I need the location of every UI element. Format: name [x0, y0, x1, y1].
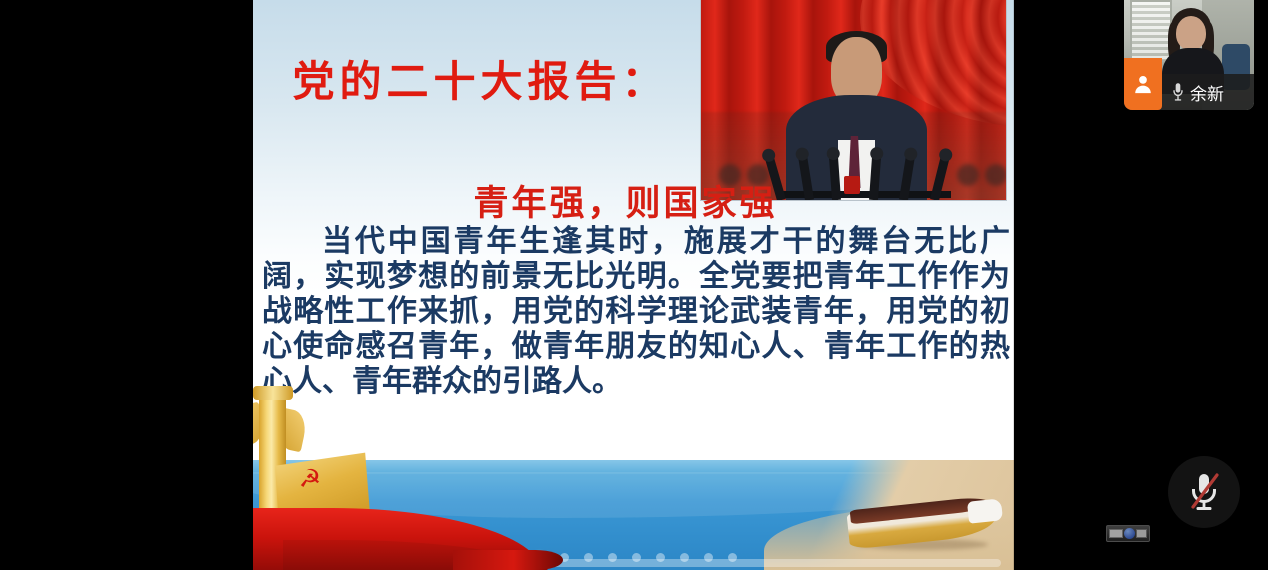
slide-body-text: 当代中国青年生逢其时，施展才干的舞台无比广阔，实现梦想的前景无比光明。全党要把青… [262, 224, 1010, 399]
screen-root: 党的二十大报告： 青年强，则国家强 [0, 0, 1268, 570]
party-emblem-icon: ☭ [297, 466, 323, 492]
boat-motor [967, 498, 1003, 523]
speaker-photo [700, 0, 1007, 201]
text-field-icon[interactable] [1109, 529, 1123, 538]
red-flag-tail [453, 550, 563, 570]
toolbar-button-icon[interactable] [1136, 529, 1147, 538]
huabiao-pillar-cap [253, 386, 293, 400]
self-view-video-tile[interactable]: 余新 [1124, 0, 1254, 110]
participant-face [1176, 16, 1206, 50]
globe-icon[interactable] [1124, 528, 1135, 539]
microphone-icon [1171, 82, 1185, 102]
microphone-muted-icon [1186, 472, 1222, 512]
presentation-slide[interactable]: 党的二十大报告： 青年强，则国家强 [253, 0, 1014, 570]
slide-title: 党的二十大报告： [253, 48, 708, 109]
video-window [1130, 0, 1172, 62]
mini-floating-toolbar[interactable] [1106, 525, 1150, 542]
participant-name-label: 余新 [1190, 80, 1224, 105]
window-blinds [1132, 2, 1170, 60]
mute-status-overlay[interactable] [1168, 456, 1240, 528]
video-tile-label-bar: 余新 [1124, 74, 1254, 110]
boat-illustration [848, 498, 996, 546]
person-icon [1124, 58, 1162, 110]
slide-monument-decoration: ☭ [253, 390, 503, 570]
slide-subtitle: 青年强，则国家强 [253, 175, 998, 226]
